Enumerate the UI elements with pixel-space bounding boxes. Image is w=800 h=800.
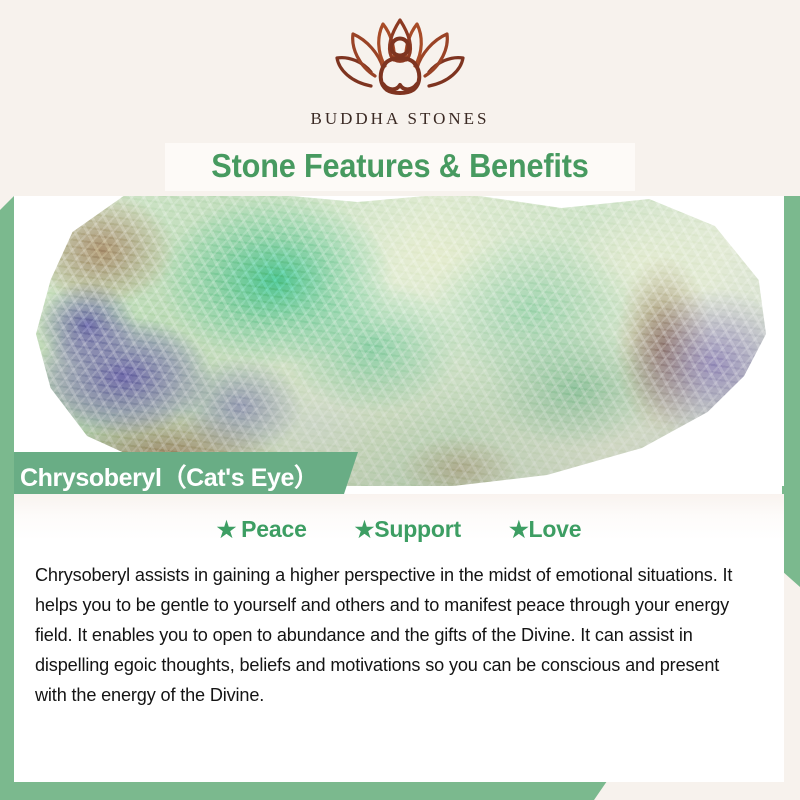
header: BUDDHA STONES Stone Features & Benefits xyxy=(0,0,800,196)
stone-photo xyxy=(14,196,784,486)
keyword-list: ★Peace ★Support ★Love xyxy=(14,516,784,543)
keyword-peace: ★Peace xyxy=(217,516,307,543)
frame-bar-right xyxy=(782,193,800,587)
keyword-love: ★Love xyxy=(509,516,581,543)
star-icon: ★ xyxy=(355,517,375,542)
stone-shading xyxy=(36,196,766,486)
keyword-label: Peace xyxy=(241,516,307,542)
brand-logo: BUDDHA STONES xyxy=(0,16,800,129)
keyword-support: ★Support xyxy=(355,516,461,543)
keyword-label: Love xyxy=(528,516,581,542)
content-panel: ★Peace ★Support ★Love Chrysoberyl assist… xyxy=(14,494,784,782)
page-title: Stone Features & Benefits xyxy=(28,147,772,185)
stone-name: Chrysoberyl（Cat's Eye） xyxy=(20,458,319,494)
stone-description: Chrysoberyl assists in gaining a higher … xyxy=(35,560,752,710)
infographic-card: BUDDHA STONES Stone Features & Benefits … xyxy=(0,0,800,800)
star-icon: ★ xyxy=(509,517,529,542)
star-icon: ★ xyxy=(217,517,237,542)
lotus-meditating-figure-logo-icon xyxy=(335,16,465,102)
keyword-label: Support xyxy=(374,516,461,542)
brand-name: BUDDHA STONES xyxy=(0,109,800,129)
stone-specimen-image xyxy=(36,196,766,486)
